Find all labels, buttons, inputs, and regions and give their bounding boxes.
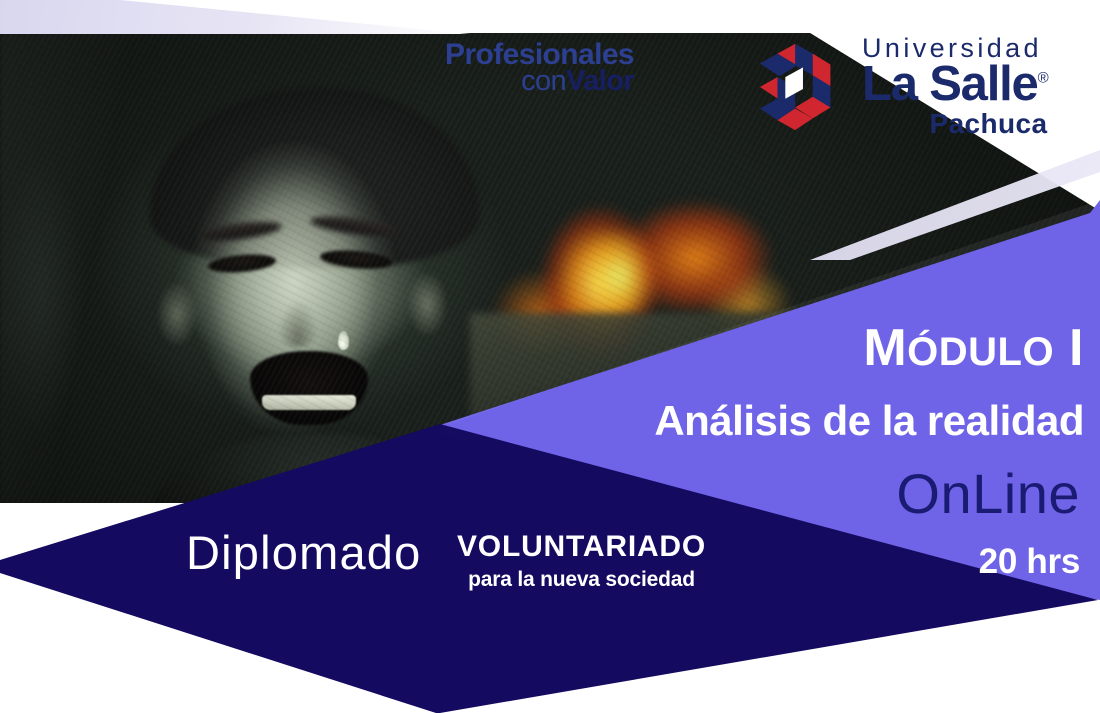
promotional-banner: Profesionales conValor Universidad La Sa… <box>0 0 1100 713</box>
tagline-line-con-valor: conValor <box>419 68 634 95</box>
la-salle-chevron-mark <box>752 32 850 140</box>
program-name-block: VOLUNTARIADO para la nueva sociedad <box>457 532 706 590</box>
registered-trademark-icon: ® <box>1038 69 1048 86</box>
program-title: VOLUNTARIADO <box>457 532 706 562</box>
module-title-initial: M <box>863 319 907 377</box>
modality-label: OnLine <box>896 466 1080 522</box>
program-subtitle: para la nueva sociedad <box>457 569 706 590</box>
logo-lasalle-word: La Salle <box>862 57 1038 111</box>
tagline-word-con: con <box>521 65 566 97</box>
module-title: MÓDULO I <box>863 322 1084 374</box>
university-logo: Universidad La Salle® Pachuca <box>752 32 1047 140</box>
program-type-label: Diplomado <box>186 529 421 576</box>
lavender-top-wedge <box>0 0 470 34</box>
module-subtitle: Análisis de la realidad <box>654 400 1084 442</box>
logo-text-lasalle: La Salle® <box>862 60 1047 109</box>
logo-text-pachuca: Pachuca <box>862 110 1047 138</box>
duration-label: 20 hrs <box>979 544 1080 579</box>
module-title-rest: ÓDULO <box>907 330 1054 374</box>
module-number: I <box>1069 319 1084 377</box>
brand-tagline: Profesionales conValor <box>419 40 634 95</box>
tagline-word-valor: Valor <box>566 65 634 97</box>
logo-wordmark: Universidad La Salle® Pachuca <box>862 35 1047 138</box>
